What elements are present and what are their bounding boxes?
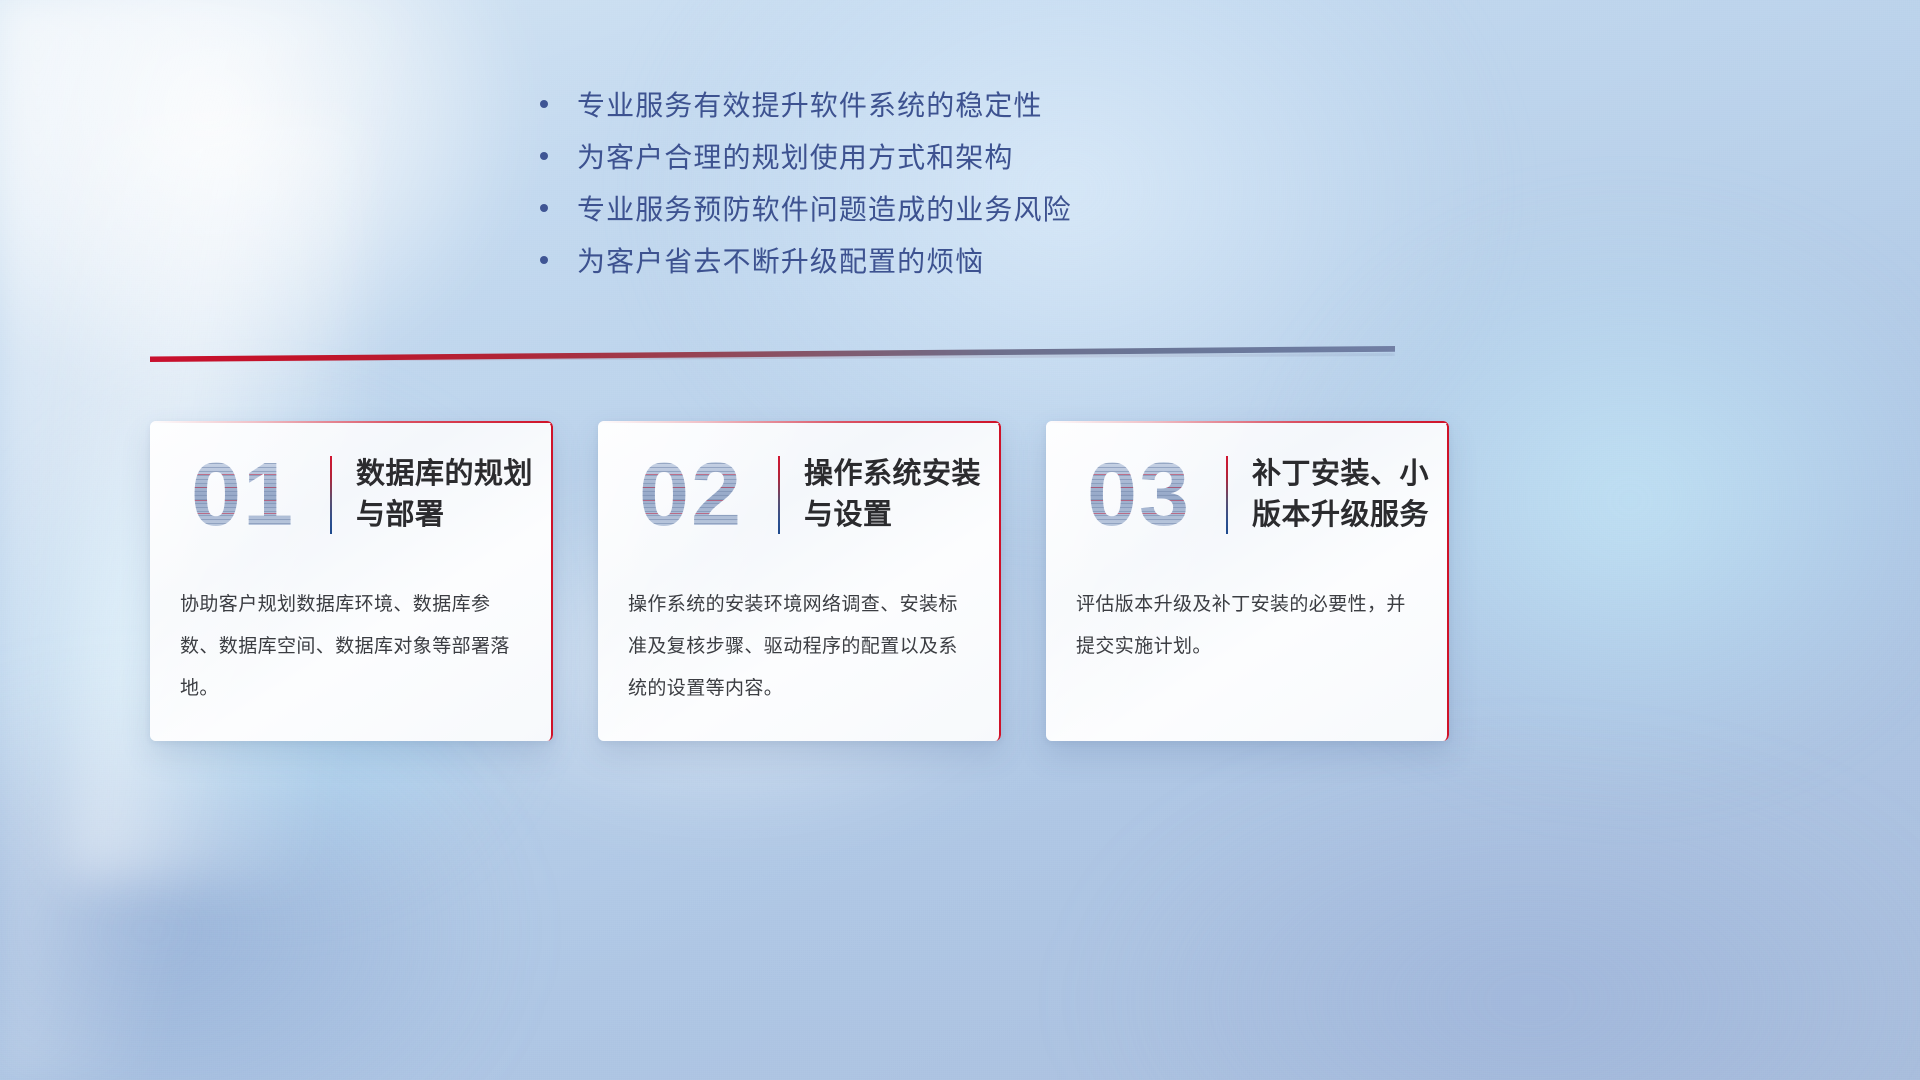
card-header: 03 03 补丁安装、小版本升级服务 — [1046, 421, 1449, 569]
service-card-02[interactable]: 02 02 操作系统安装与设置 操作系统的安装环境网络调查、安装标准及复核步骤、… — [598, 421, 1001, 741]
list-item: 为客户省去不断升级配置的烦恼 — [540, 248, 1440, 300]
service-card-deck: 01 01 数据库的规划与部署 协助客户规划数据库环境、数据库参数、数据库空间、… — [150, 421, 1450, 741]
card-divider-rule — [1226, 456, 1228, 534]
card-number: 02 — [620, 450, 762, 540]
card-title: 数据库的规划与部署 — [356, 454, 553, 536]
list-item: 专业服务预防软件问题造成的业务风险 — [540, 196, 1440, 248]
benefits-bullet-list: 专业服务有效提升软件系统的稳定性 为客户合理的规划使用方式和架构 专业服务预防软… — [540, 92, 1440, 300]
bullet-text: 专业服务预防软件问题造成的业务风险 — [577, 196, 1072, 224]
card-divider-rule — [778, 456, 780, 534]
list-item: 专业服务有效提升软件系统的稳定性 — [540, 92, 1440, 144]
card-body-text: 评估版本升级及补丁安装的必要性，并提交实施计划。 — [1076, 584, 1423, 668]
card-body-text: 操作系统的安装环境网络调查、安装标准及复核步骤、驱动程序的配置以及系统的设置等内… — [628, 584, 975, 711]
card-number: 03 — [1068, 450, 1210, 540]
bullet-text: 为客户省去不断升级配置的烦恼 — [577, 248, 984, 276]
card-title: 补丁安装、小版本升级服务 — [1252, 454, 1449, 536]
card-header: 02 02 操作系统安装与设置 — [598, 421, 1001, 569]
section-divider — [150, 346, 1395, 362]
bullet-dot-icon — [540, 204, 548, 212]
card-title: 操作系统安装与设置 — [804, 454, 1001, 536]
list-item: 为客户合理的规划使用方式和架构 — [540, 144, 1440, 196]
card-header: 01 01 数据库的规划与部署 — [150, 421, 553, 569]
card-number: 01 — [172, 450, 314, 540]
bullet-text: 为客户合理的规划使用方式和架构 — [577, 144, 1014, 172]
service-card-03[interactable]: 03 03 补丁安装、小版本升级服务 评估版本升级及补丁安装的必要性，并提交实施… — [1046, 421, 1449, 741]
card-body-text: 协助客户规划数据库环境、数据库参数、数据库空间、数据库对象等部署落地。 — [180, 584, 527, 711]
bullet-dot-icon — [540, 256, 548, 264]
bullet-dot-icon — [540, 100, 548, 108]
bullet-text: 专业服务有效提升软件系统的稳定性 — [577, 92, 1043, 120]
service-card-01[interactable]: 01 01 数据库的规划与部署 协助客户规划数据库环境、数据库参数、数据库空间、… — [150, 421, 553, 741]
card-divider-rule — [330, 456, 332, 534]
bullet-dot-icon — [540, 152, 548, 160]
